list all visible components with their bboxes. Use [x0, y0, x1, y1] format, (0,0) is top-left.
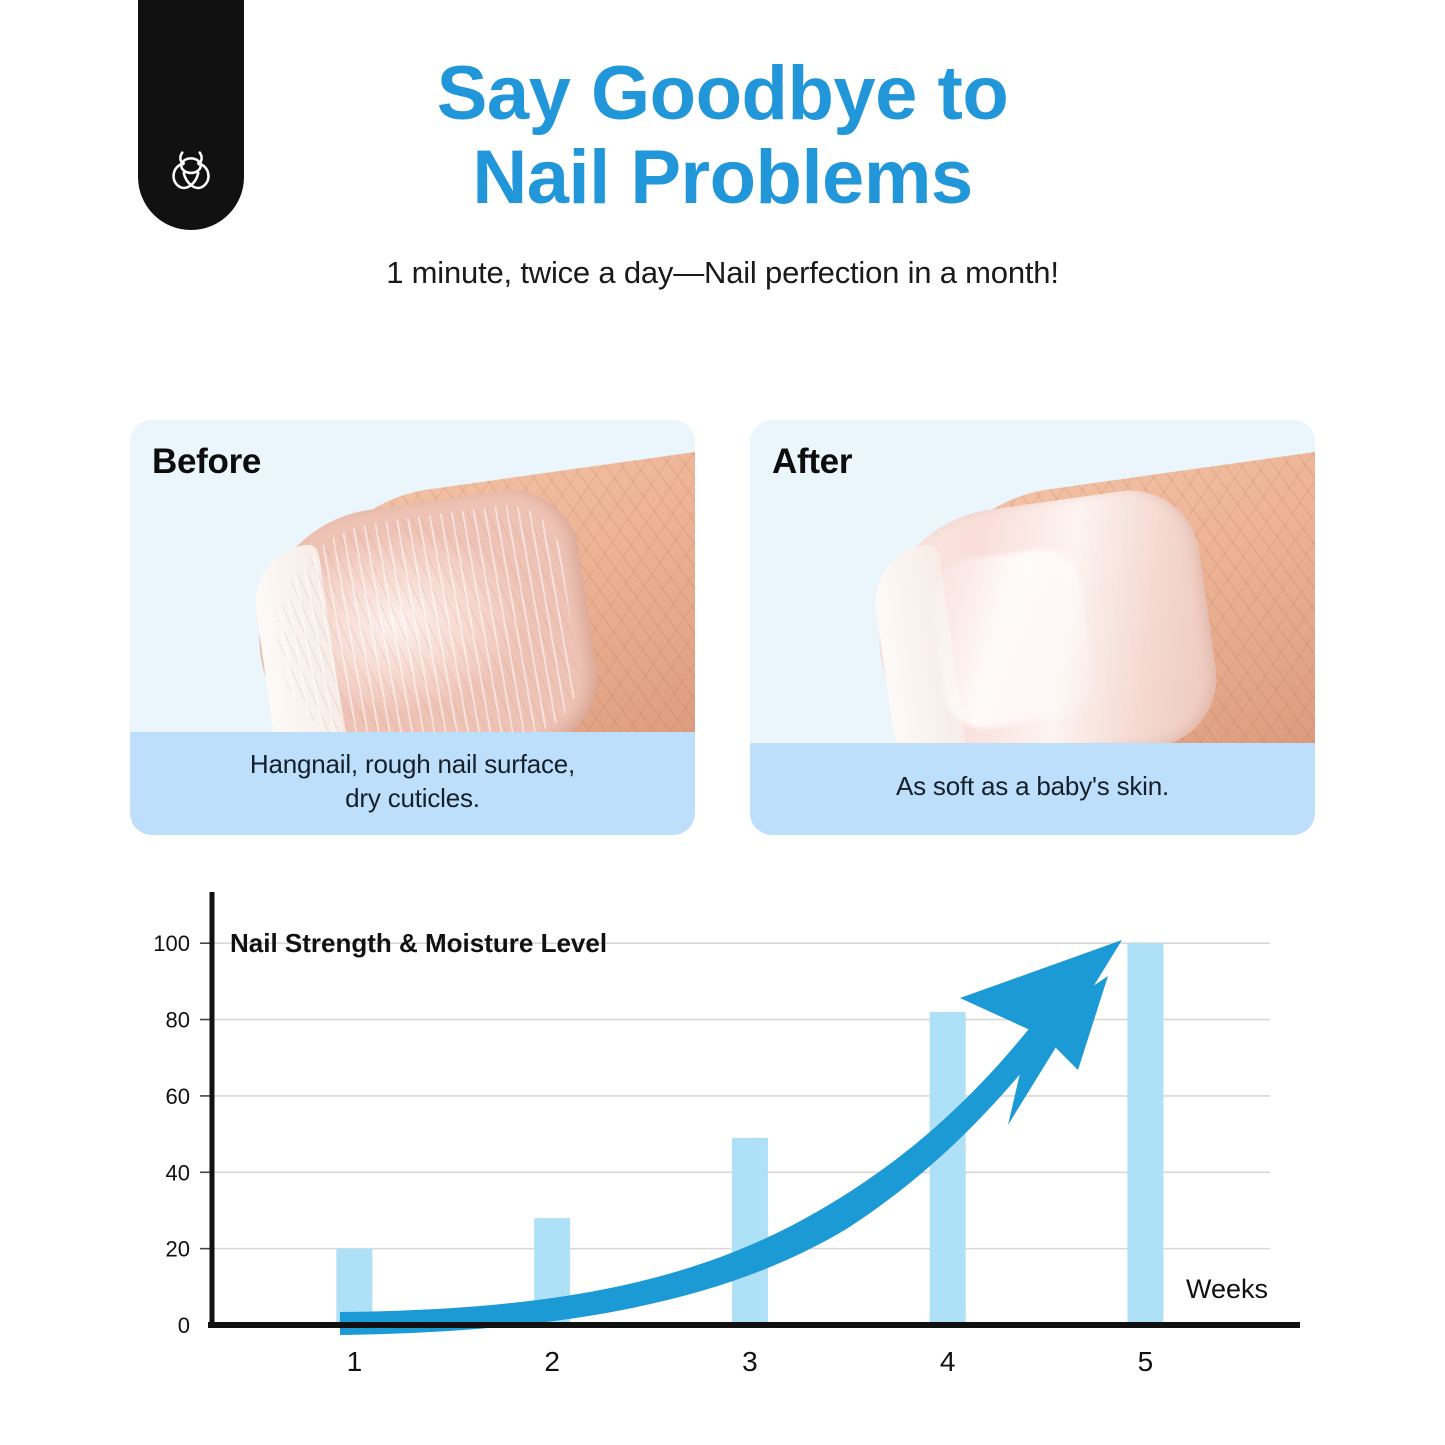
before-caption-line-1: Hangnail, rough nail surface, [250, 749, 575, 779]
chart-y-tick-label: 40 [166, 1160, 190, 1185]
chart-x-tick-label: 2 [544, 1346, 560, 1377]
chart-x-axis-label: Weeks [1186, 1274, 1268, 1304]
chart-y-tick-label: 100 [153, 931, 190, 956]
before-photo: Before [130, 420, 695, 732]
chart-title: Nail Strength & Moisture Level [230, 928, 607, 958]
chart-x-tick-label: 1 [347, 1346, 363, 1377]
title-line-2: Nail Problems [230, 136, 1215, 220]
after-card: After As soft as a baby's skin. [750, 420, 1315, 835]
growth-chart-svg: 020406080100Nail Strength & Moisture Lev… [0, 880, 1445, 1380]
before-label: Before [152, 442, 261, 482]
chart-trend-arrow [340, 976, 1108, 1335]
chart-x-tick-label: 3 [742, 1346, 758, 1377]
after-finger-illustration [840, 431, 1315, 743]
chart-x-tick-label: 4 [940, 1346, 956, 1377]
growth-chart: 020406080100Nail Strength & Moisture Lev… [0, 880, 1445, 1380]
chart-bar [732, 1138, 768, 1325]
before-card: Before Hangnail, rough nail surface, dry… [130, 420, 695, 835]
after-caption: As soft as a baby's skin. [750, 743, 1315, 835]
chart-bar [1127, 943, 1163, 1325]
after-photo: After [750, 420, 1315, 743]
after-caption-line-1: As soft as a baby's skin. [896, 770, 1169, 803]
page-subtitle: 1 minute, twice a day—Nail perfection in… [0, 255, 1445, 291]
chart-y-tick-label: 80 [166, 1008, 190, 1033]
before-after-comparison: Before Hangnail, rough nail surface, dry… [130, 420, 1315, 835]
page-title: Say Goodbye to Nail Problems [0, 52, 1445, 219]
after-label: After [772, 442, 852, 482]
chart-y-tick-label: 60 [166, 1084, 190, 1109]
page-header: Say Goodbye to Nail Problems 1 minute, t… [0, 52, 1445, 291]
title-line-1: Say Goodbye to [230, 52, 1215, 136]
before-caption: Hangnail, rough nail surface, dry cuticl… [130, 732, 695, 835]
before-finger-illustration [220, 431, 695, 733]
chart-bar [930, 1012, 966, 1325]
chart-y-tick-label: 20 [166, 1237, 190, 1262]
chart-y-tick-label: 0 [178, 1313, 190, 1338]
before-caption-line-2: dry cuticles. [345, 783, 480, 813]
chart-x-tick-label: 5 [1138, 1346, 1154, 1377]
